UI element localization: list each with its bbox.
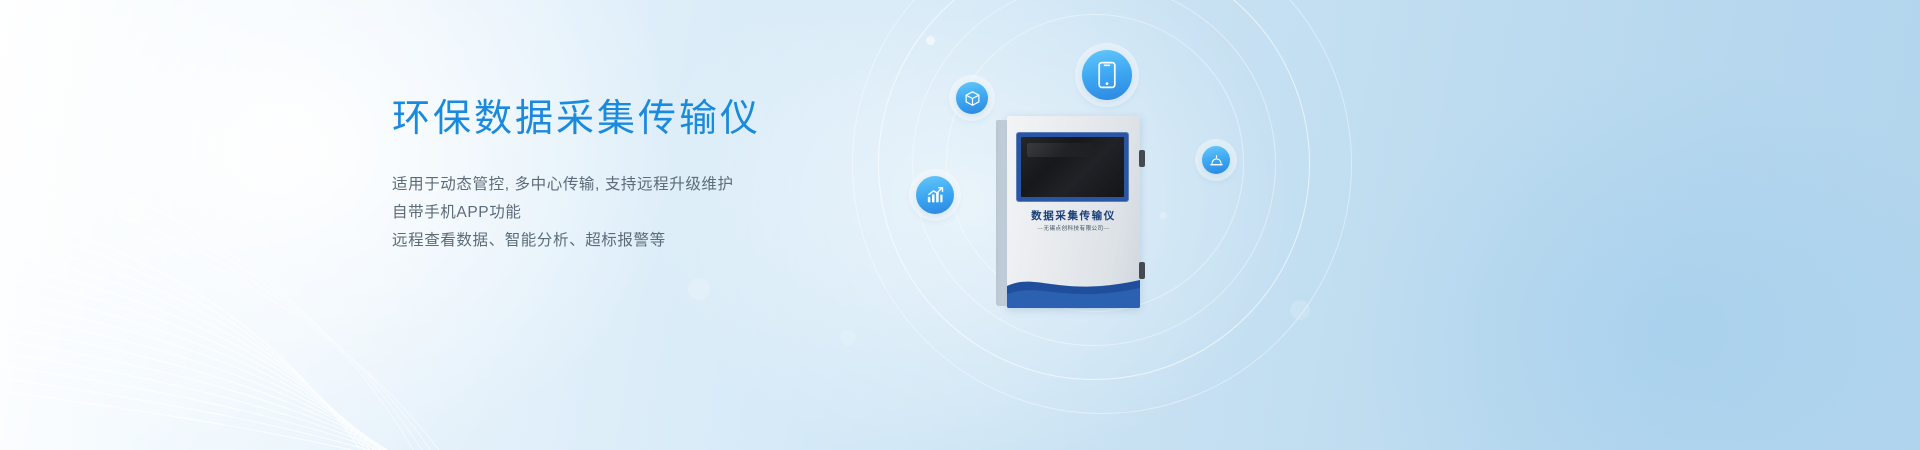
device-brand-label: 数据采集传输仪	[1007, 208, 1140, 223]
device-screen	[1021, 137, 1124, 197]
phone-icon[interactable]	[1082, 50, 1132, 100]
bokeh-circle	[118, 196, 144, 222]
device-front-panel: 数据采集传输仪 —无锡点创科技有限公司—	[1007, 116, 1140, 308]
device-latch-top	[1139, 150, 1145, 167]
bokeh-circle	[688, 278, 710, 300]
device-screen-bezel	[1016, 132, 1129, 202]
chart-icon[interactable]	[916, 176, 954, 214]
hero-banner: 环保数据采集传输仪 适用于动态管控, 多中心传输, 支持远程升级维护 自带手机A…	[0, 0, 1920, 450]
cube-icon[interactable]	[956, 82, 988, 114]
bokeh-circle	[840, 330, 856, 346]
device-company-label: —无锡点创科技有限公司—	[1007, 224, 1140, 232]
decorative-dot	[1160, 212, 1167, 219]
decorative-dot	[926, 36, 935, 45]
device-wave-decor	[1007, 268, 1140, 308]
alarm-icon[interactable]	[1202, 146, 1230, 174]
device-latch-bottom	[1139, 262, 1145, 279]
data-acquisition-device: 数据采集传输仪 —无锡点创科技有限公司—	[996, 116, 1140, 308]
product-visual: 数据采集传输仪 —无锡点创科技有限公司—	[860, 0, 1380, 450]
